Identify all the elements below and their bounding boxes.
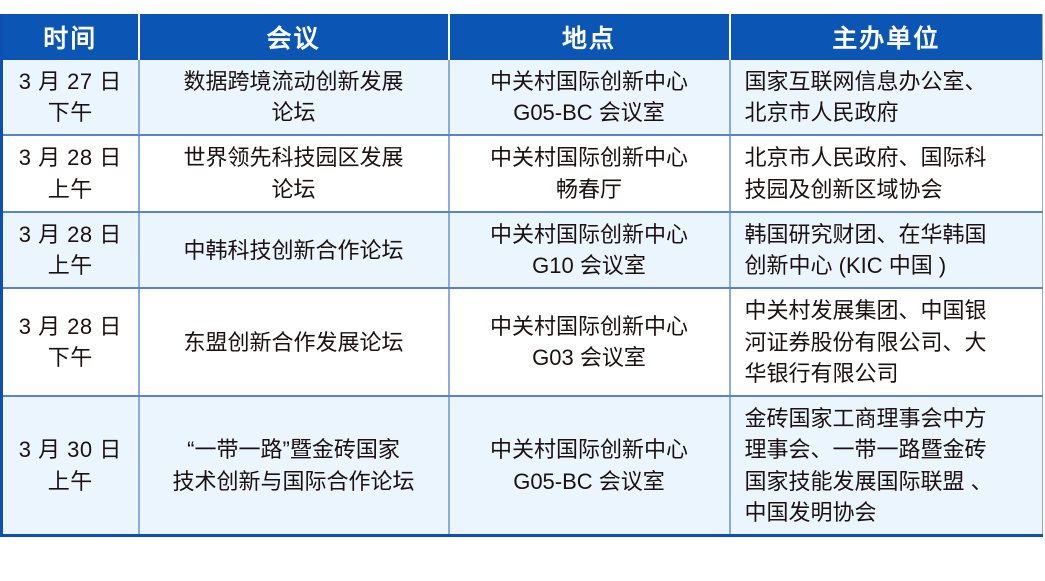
cell-organizer: 金砖国家工商理事会中方 理事会、一带一路暨金砖 国家技能发展国际联盟 、 中国发… [730, 396, 1043, 535]
cell-place: 中关村国际创新中心 畅春厅 [449, 135, 730, 211]
organizer-line-2: 河证券股份有限公司、大 [745, 327, 1037, 358]
cell-time: 3 月 28 日 上午 [2, 135, 139, 211]
cell-conference: 中韩科技创新合作论坛 [139, 212, 449, 288]
conference-line-1: 数据跨境流动创新发展 [154, 66, 434, 97]
time-line-1: 3 月 30 日 [13, 434, 128, 465]
place-line-1: 中关村国际创新中心 [458, 219, 721, 250]
organizer-line-1: 北京市人民政府、国际科 [745, 142, 1037, 173]
cell-conference: 东盟创新合作发展论坛 [139, 288, 449, 396]
table-row: 3 月 27 日 下午 数据跨境流动创新发展 论坛 中关村国际创新中心 G05-… [2, 60, 1043, 135]
organizer-line-3: 国家技能发展国际联盟 、 [745, 466, 1037, 497]
place-line-2: G05-BC 会议室 [458, 97, 721, 128]
table-row: 3 月 30 日 上午 “一带一路”暨金砖国家 技术创新与国际合作论坛 中关村国… [2, 396, 1043, 535]
conference-line-2: 论坛 [154, 174, 434, 205]
conference-line-2: 技术创新与国际合作论坛 [154, 466, 434, 497]
time-line-1: 3 月 28 日 [13, 311, 128, 342]
cell-time: 3 月 28 日 上午 [2, 212, 139, 288]
header-row: 时间 会议 地点 主办单位 [2, 14, 1043, 60]
cell-conference: 数据跨境流动创新发展 论坛 [139, 60, 449, 135]
cell-organizer: 韩国研究财团、在华韩国 创新中心 (KIC 中国 ) [730, 212, 1043, 288]
column-header-place: 地点 [449, 14, 730, 60]
place-line-2: 畅春厅 [458, 174, 721, 205]
place-line-2: G10 会议室 [458, 250, 721, 281]
organizer-line-4: 中国发明协会 [745, 497, 1037, 528]
organizer-line-2: 创新中心 (KIC 中国 ) [745, 250, 1037, 281]
conference-line-2: 论坛 [154, 97, 434, 128]
time-line-2: 上午 [13, 250, 128, 281]
organizer-line-1: 国家互联网信息办公室、 [745, 66, 1037, 97]
time-line-1: 3 月 28 日 [13, 219, 128, 250]
column-header-time: 时间 [2, 14, 139, 60]
cell-place: 中关村国际创新中心 G05-BC 会议室 [449, 396, 730, 535]
organizer-line-1: 中关村发展集团、中国银 [745, 295, 1037, 326]
cell-time: 3 月 28 日 下午 [2, 288, 139, 396]
organizer-line-1: 韩国研究财团、在华韩国 [745, 219, 1037, 250]
organizer-line-1: 金砖国家工商理事会中方 [745, 403, 1037, 434]
place-line-1: 中关村国际创新中心 [458, 434, 721, 465]
cell-conference: “一带一路”暨金砖国家 技术创新与国际合作论坛 [139, 396, 449, 535]
column-header-organizer: 主办单位 [730, 14, 1043, 60]
conference-schedule-table: 时间 会议 地点 主办单位 3 月 27 日 下午 数据跨境流动创新发展 论坛 … [0, 14, 1043, 537]
organizer-line-2: 理事会、一带一路暨金砖 [745, 434, 1037, 465]
place-line-1: 中关村国际创新中心 [458, 311, 721, 342]
place-line-2: G05-BC 会议室 [458, 466, 721, 497]
conference-line-1: “一带一路”暨金砖国家 [154, 434, 434, 465]
schedule-page: 时间 会议 地点 主办单位 3 月 27 日 下午 数据跨境流动创新发展 论坛 … [0, 0, 1045, 581]
time-line-2: 上午 [13, 174, 128, 205]
conference-line-1: 东盟创新合作发展论坛 [154, 327, 434, 358]
time-line-2: 下午 [13, 342, 128, 373]
cell-time: 3 月 30 日 上午 [2, 396, 139, 535]
organizer-line-3: 华银行有限公司 [745, 358, 1037, 389]
place-line-2: G03 会议室 [458, 342, 721, 373]
cell-place: 中关村国际创新中心 G03 会议室 [449, 288, 730, 396]
cell-organizer: 北京市人民政府、国际科 技园及创新区域协会 [730, 135, 1043, 211]
conference-line-1: 中韩科技创新合作论坛 [154, 235, 434, 266]
cell-time: 3 月 27 日 下午 [2, 60, 139, 135]
cell-place: 中关村国际创新中心 G05-BC 会议室 [449, 60, 730, 135]
table-row: 3 月 28 日 下午 东盟创新合作发展论坛 中关村国际创新中心 G03 会议室… [2, 288, 1043, 396]
organizer-line-2: 北京市人民政府 [745, 97, 1037, 128]
cell-organizer: 国家互联网信息办公室、 北京市人民政府 [730, 60, 1043, 135]
column-header-conference: 会议 [139, 14, 449, 60]
table-header: 时间 会议 地点 主办单位 [2, 14, 1043, 60]
table-row: 3 月 28 日 上午 世界领先科技园区发展 论坛 中关村国际创新中心 畅春厅 … [2, 135, 1043, 211]
time-line-1: 3 月 27 日 [13, 66, 128, 97]
place-line-1: 中关村国际创新中心 [458, 66, 721, 97]
table-body: 3 月 27 日 下午 数据跨境流动创新发展 论坛 中关村国际创新中心 G05-… [2, 60, 1043, 536]
cell-organizer: 中关村发展集团、中国银 河证券股份有限公司、大 华银行有限公司 [730, 288, 1043, 396]
time-line-2: 上午 [13, 466, 128, 497]
cell-conference: 世界领先科技园区发展 论坛 [139, 135, 449, 211]
conference-line-1: 世界领先科技园区发展 [154, 142, 434, 173]
time-line-2: 下午 [13, 97, 128, 128]
table-row: 3 月 28 日 上午 中韩科技创新合作论坛 中关村国际创新中心 G10 会议室… [2, 212, 1043, 288]
place-line-1: 中关村国际创新中心 [458, 142, 721, 173]
cell-place: 中关村国际创新中心 G10 会议室 [449, 212, 730, 288]
organizer-line-2: 技园及创新区域协会 [745, 174, 1037, 205]
time-line-1: 3 月 28 日 [13, 142, 128, 173]
